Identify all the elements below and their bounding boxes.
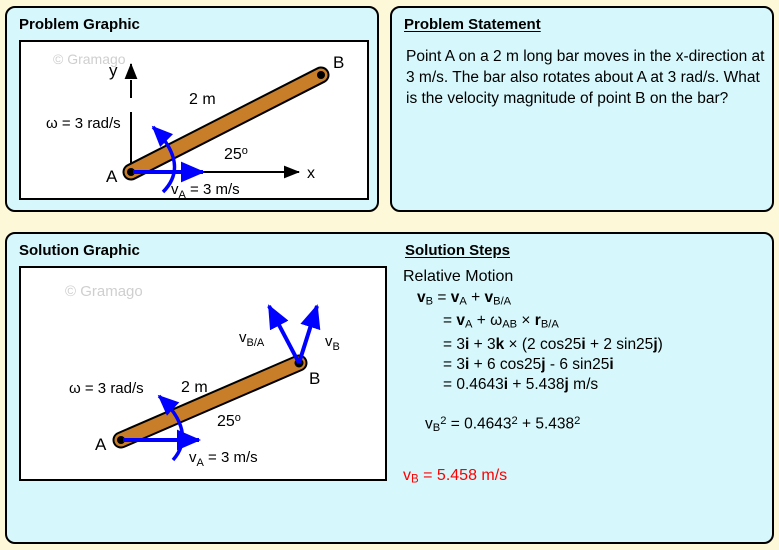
equation-line-4: = 3i + 6 cos25j - 6 sin25i: [403, 355, 771, 375]
watermark-text: © Gramago: [65, 283, 143, 300]
point-b-label: B: [309, 369, 320, 388]
panel-title-solution-graphic: Solution Graphic: [19, 242, 140, 259]
bar-body: [121, 363, 299, 440]
omega-label: ω = 3 rad/s: [46, 115, 121, 132]
angle-label: 25o: [224, 145, 248, 163]
slide-page: Problem Graphic © Gramago y: [0, 0, 779, 550]
equation-line-5: = 0.4643i + 5.438j m/s: [403, 375, 771, 395]
magnitude-equation: vB2 = 0.46432 + 5.4382: [403, 411, 771, 438]
spacer: [403, 395, 771, 411]
spacer: [403, 454, 771, 467]
axis-x-label: x: [307, 165, 315, 182]
va-label: vA = 3 m/s: [171, 181, 240, 198]
step-heading: Relative Motion: [403, 266, 771, 287]
vb-arrow: [299, 306, 317, 363]
final-answer: vB = 5.458 m/s: [403, 467, 771, 486]
solution-graphic-svg: © Gramago A B 2 m 25o ω = 3 rad/s vA = 3…: [21, 268, 385, 479]
vba-label: vB/A: [239, 329, 265, 349]
eq-1-rhs: = vA + vB/A: [437, 289, 511, 306]
panel-problem-graphic: Problem Graphic © Gramago y: [5, 6, 379, 212]
bar-length-label: 2 m: [189, 91, 216, 108]
bar-length-label: 2 m: [181, 379, 208, 396]
panel-title-problem-graphic: Problem Graphic: [19, 16, 140, 33]
spacer: [403, 438, 771, 454]
panel-solution: Solution Graphic Solution Steps © Gramag…: [5, 232, 774, 544]
point-b-label: B: [333, 53, 344, 72]
equation-line-2: = vA + ωAB × rB/A: [403, 311, 771, 334]
equation-line-1: vB = vA + vB/A: [403, 288, 771, 311]
vb-label: vB: [325, 333, 340, 353]
va-label: vA = 3 m/s: [189, 449, 258, 469]
problem-statement-text: Point A on a 2 m long bar moves in the x…: [406, 46, 766, 109]
panel-title-solution-steps: Solution Steps: [405, 242, 510, 259]
angle-label: 25o: [217, 412, 241, 430]
point-b-dot: [317, 71, 325, 79]
problem-graphic-svg: © Gramago y x A B 2 m 25o: [21, 42, 367, 198]
axis-y-label: y: [109, 61, 118, 80]
vba-arrow: [269, 306, 299, 363]
solution-steps-body: Relative Motion vB = vA + vB/A = vA + ωA…: [403, 266, 771, 486]
panel-problem-statement: Problem Statement Point A on a 2 m long …: [390, 6, 774, 212]
figure-box-solution: © Gramago A B 2 m 25o ω = 3 rad/s vA = 3…: [19, 266, 387, 481]
point-a-label: A: [95, 435, 107, 454]
panel-title-problem-statement: Problem Statement: [404, 16, 541, 33]
equation-line-3: = 3i + 3k × (2 cos25i + 2 sin25j): [403, 335, 771, 355]
omega-label: ω = 3 rad/s: [69, 380, 144, 397]
point-a-label: A: [106, 167, 118, 186]
figure-box-problem: © Gramago y x A B 2 m 25o: [19, 40, 369, 200]
vb-symbol: v: [417, 289, 426, 306]
